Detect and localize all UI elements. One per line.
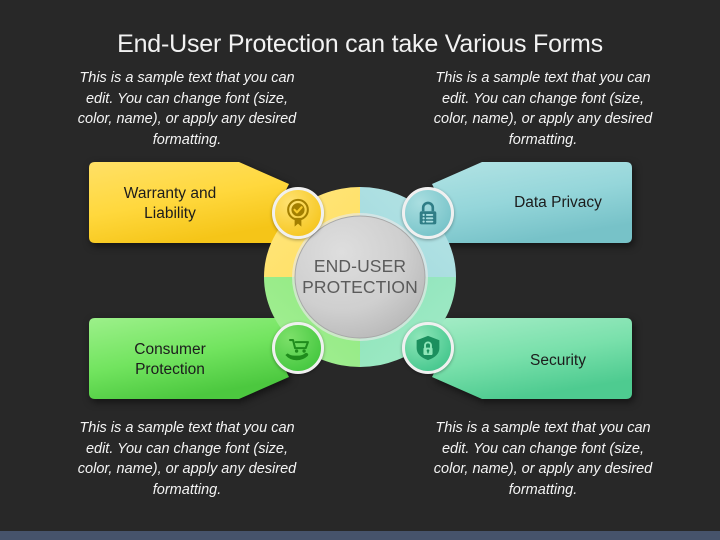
shield-lock-icon[interactable]: [402, 322, 454, 374]
caption-bottom-left: This is a sample text that you can edit.…: [72, 418, 302, 501]
caption-top-right: This is a sample text that you can edit.…: [428, 68, 658, 151]
page-title: End-User Protection can take Various For…: [0, 30, 720, 59]
caption-top-left: This is a sample text that you can edit.…: [72, 68, 302, 151]
cart-on-hand-icon[interactable]: [272, 322, 324, 374]
padlock-list-icon[interactable]: [402, 187, 454, 239]
award-badge-icon[interactable]: [272, 187, 324, 239]
bottom-accent-bar: [0, 531, 720, 540]
caption-bottom-right: This is a sample text that you can edit.…: [428, 418, 658, 501]
slide-canvas: End-User Protection can take Various For…: [0, 0, 720, 531]
